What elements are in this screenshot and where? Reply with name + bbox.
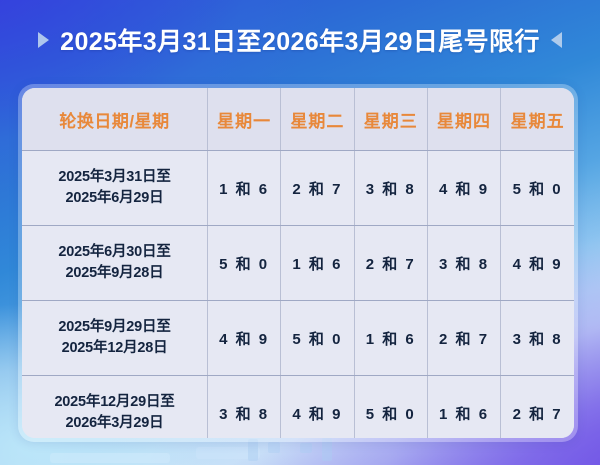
period-start-text: 2025年6月30日至 xyxy=(24,242,205,263)
period-cell: 2025年9月29日至 2025年12月28日 xyxy=(22,301,208,376)
plate-digits-cell: 4 和 9 xyxy=(427,151,500,226)
schedule-card: 轮换日期/星期 星期一 星期二 星期三 星期四 星期五 2025年3月31日至 … xyxy=(18,84,578,442)
plate-digits-cell: 2 和 7 xyxy=(281,151,354,226)
restriction-schedule-table: 轮换日期/星期 星期一 星期二 星期三 星期四 星期五 2025年3月31日至 … xyxy=(22,88,574,438)
plate-digits-cell: 5 和 0 xyxy=(354,376,427,439)
table-header: 轮换日期/星期 星期一 星期二 星期三 星期四 星期五 xyxy=(22,88,574,151)
period-start-text: 2025年9月29日至 xyxy=(24,317,205,338)
plate-digits-cell: 2 和 7 xyxy=(427,301,500,376)
period-end-text: 2025年6月29日 xyxy=(24,188,205,209)
plate-digits-cell: 2 和 7 xyxy=(354,226,427,301)
plate-digits-cell: 5 和 0 xyxy=(281,301,354,376)
period-start-text: 2025年12月29日至 xyxy=(24,392,205,413)
plate-digits-cell: 3 和 8 xyxy=(501,301,574,376)
table-header-row: 轮换日期/星期 星期一 星期二 星期三 星期四 星期五 xyxy=(22,88,574,151)
plate-digits-cell: 1 和 6 xyxy=(427,376,500,439)
table-row: 2025年9月29日至 2025年12月28日 4 和 9 5 和 0 1 和 … xyxy=(22,301,574,376)
plate-digits-cell: 1 和 6 xyxy=(281,226,354,301)
plate-digits-cell: 1 和 6 xyxy=(208,151,281,226)
period-cell: 2025年6月30日至 2025年9月28日 xyxy=(22,226,208,301)
column-header-friday: 星期五 xyxy=(501,88,574,151)
plate-digits-cell: 3 和 8 xyxy=(208,376,281,439)
plate-digits-cell: 2 和 7 xyxy=(501,376,574,439)
plate-digits-cell: 5 和 0 xyxy=(501,151,574,226)
table-row: 2025年6月30日至 2025年9月28日 5 和 0 1 和 6 2 和 7… xyxy=(22,226,574,301)
page-root: 2025年3月31日至2026年3月29日尾号限行 轮换日期/星期 星期一 星期… xyxy=(0,0,600,465)
column-header-period: 轮换日期/星期 xyxy=(22,88,208,151)
plate-digits-cell: 4 和 9 xyxy=(281,376,354,439)
triangle-left-icon xyxy=(551,32,562,48)
table-body: 2025年3月31日至 2025年6月29日 1 和 6 2 和 7 3 和 8… xyxy=(22,151,574,439)
column-header-thursday: 星期四 xyxy=(427,88,500,151)
period-end-text: 2025年12月28日 xyxy=(24,338,205,359)
triangle-right-icon xyxy=(38,32,49,48)
column-header-wednesday: 星期三 xyxy=(354,88,427,151)
table-row: 2025年3月31日至 2025年6月29日 1 和 6 2 和 7 3 和 8… xyxy=(22,151,574,226)
table-row: 2025年12月29日至 2026年3月29日 3 和 8 4 和 9 5 和 … xyxy=(22,376,574,439)
period-cell: 2025年3月31日至 2025年6月29日 xyxy=(22,151,208,226)
plate-digits-cell: 4 和 9 xyxy=(501,226,574,301)
period-start-text: 2025年3月31日至 xyxy=(24,167,205,188)
period-cell: 2025年12月29日至 2026年3月29日 xyxy=(22,376,208,439)
plate-digits-cell: 3 和 8 xyxy=(427,226,500,301)
plate-digits-cell: 5 和 0 xyxy=(208,226,281,301)
page-title-row: 2025年3月31日至2026年3月29日尾号限行 xyxy=(0,18,600,62)
period-end-text: 2026年3月29日 xyxy=(24,413,205,434)
page-title: 2025年3月31日至2026年3月29日尾号限行 xyxy=(60,22,540,58)
schedule-card-inner: 轮换日期/星期 星期一 星期二 星期三 星期四 星期五 2025年3月31日至 … xyxy=(22,88,574,438)
plate-digits-cell: 1 和 6 xyxy=(354,301,427,376)
column-header-monday: 星期一 xyxy=(208,88,281,151)
column-header-tuesday: 星期二 xyxy=(281,88,354,151)
period-end-text: 2025年9月28日 xyxy=(24,263,205,284)
plate-digits-cell: 4 和 9 xyxy=(208,301,281,376)
plate-digits-cell: 3 和 8 xyxy=(354,151,427,226)
